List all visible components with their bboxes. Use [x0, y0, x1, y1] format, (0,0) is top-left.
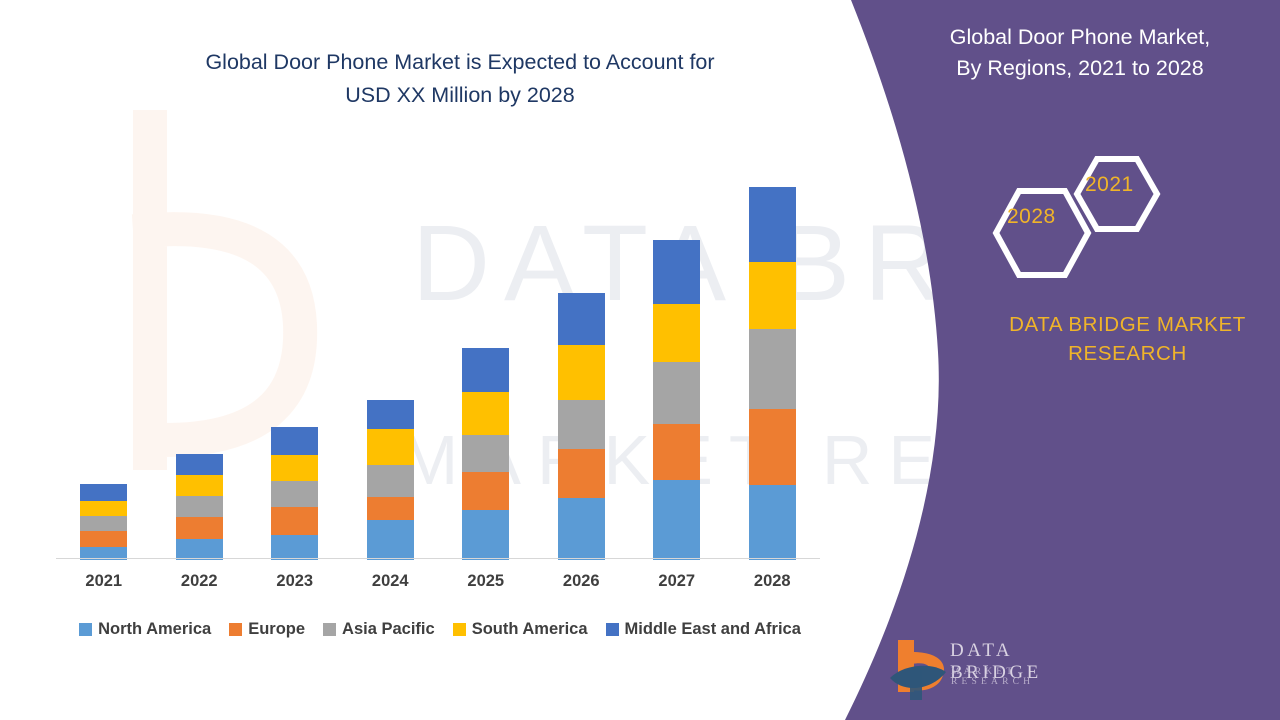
bar-2026[interactable]	[558, 293, 605, 560]
legend-item[interactable]: North America	[79, 620, 211, 639]
bar-segment[interactable]	[367, 520, 414, 560]
bar-segment[interactable]	[176, 517, 223, 539]
x-axis-line	[56, 558, 820, 559]
bar-segment[interactable]	[271, 427, 318, 455]
hexagon-2021-label: 2021	[1085, 173, 1134, 197]
bar-segment[interactable]	[367, 429, 414, 465]
bar-segment[interactable]	[367, 465, 414, 497]
legend-swatch-icon	[453, 623, 466, 636]
bar-segment[interactable]	[80, 484, 127, 501]
legend-label: Middle East and Africa	[625, 620, 801, 639]
bar-segment[interactable]	[462, 510, 509, 560]
bar-segment[interactable]	[271, 455, 318, 481]
bar-segment[interactable]	[749, 262, 796, 329]
bar-segment[interactable]	[749, 485, 796, 560]
x-axis-label-2023: 2023	[250, 572, 340, 591]
bar-segment[interactable]	[367, 400, 414, 429]
panel-title-line1: Global Door Phone Market,	[950, 25, 1211, 49]
bar-segment[interactable]	[462, 435, 509, 472]
legend-swatch-icon	[606, 623, 619, 636]
legend-label: South America	[472, 620, 588, 639]
x-axis-label-2025: 2025	[441, 572, 531, 591]
brand-line1: DATA BRIDGE MARKET	[955, 310, 1280, 339]
bar-2022[interactable]	[176, 454, 223, 560]
bar-segment[interactable]	[653, 424, 700, 480]
bar-segment[interactable]	[462, 348, 509, 392]
bar-2027[interactable]	[653, 240, 700, 560]
hexagon-2028-shape	[996, 191, 1088, 275]
bar-segment[interactable]	[749, 329, 796, 409]
chart-title-line1: Global Door Phone Market is Expected to …	[205, 50, 714, 74]
bar-segment[interactable]	[367, 497, 414, 520]
bar-segment[interactable]	[749, 409, 796, 485]
brand-line2: RESEARCH	[955, 339, 1280, 368]
bar-segment[interactable]	[176, 454, 223, 475]
chart-title-line2: USD XX Million by 2028	[110, 79, 810, 112]
panel-title-line2: By Regions, 2021 to 2028	[900, 53, 1260, 84]
legend-item[interactable]: Europe	[229, 620, 305, 639]
bar-segment[interactable]	[653, 304, 700, 362]
x-axis-label-2027: 2027	[632, 572, 722, 591]
legend-item[interactable]: South America	[453, 620, 588, 639]
bar-segment[interactable]	[653, 480, 700, 560]
bar-segment[interactable]	[462, 472, 509, 510]
bar-2021[interactable]	[80, 484, 127, 560]
legend-swatch-icon	[79, 623, 92, 636]
chart-title: Global Door Phone Market is Expected to …	[110, 46, 810, 112]
bar-segment[interactable]	[558, 293, 605, 345]
logo-mark-icon	[888, 634, 950, 702]
x-axis-label-2026: 2026	[536, 572, 626, 591]
chart-plot-area	[56, 140, 820, 560]
bar-segment[interactable]	[558, 345, 605, 400]
bar-segment[interactable]	[80, 501, 127, 516]
bar-segment[interactable]	[176, 496, 223, 517]
bar-segment[interactable]	[80, 516, 127, 531]
bar-2028[interactable]	[749, 187, 796, 560]
bar-segment[interactable]	[271, 507, 318, 535]
legend-label: Europe	[248, 620, 305, 639]
bar-segment[interactable]	[271, 535, 318, 560]
bar-segment[interactable]	[558, 498, 605, 560]
bar-segment[interactable]	[749, 187, 796, 262]
hexagon-2028-label: 2028	[1007, 205, 1056, 229]
legend-label: North America	[98, 620, 211, 639]
legend-item[interactable]: Asia Pacific	[323, 620, 435, 639]
data-bridge-logo: DATA BRIDGE MARKET RESEARCH	[888, 634, 1103, 706]
legend-item[interactable]: Middle East and Africa	[606, 620, 801, 639]
bar-segment[interactable]	[271, 481, 318, 507]
logo-tagline: MARKET RESEARCH	[951, 667, 1103, 687]
x-axis-label-2021: 2021	[59, 572, 149, 591]
bar-2025[interactable]	[462, 348, 509, 560]
brand-name: DATA BRIDGE MARKET RESEARCH	[955, 310, 1280, 368]
infographic-canvas: DATA BRIDGE MARKET RESEARCH Global Door …	[0, 0, 1280, 720]
chart-legend: North AmericaEuropeAsia PacificSouth Ame…	[56, 616, 824, 642]
hexagon-badges: 2028 2021	[985, 155, 1185, 280]
bar-segment[interactable]	[653, 240, 700, 304]
panel-title: Global Door Phone Market, By Regions, 20…	[900, 22, 1260, 84]
bar-segment[interactable]	[462, 392, 509, 435]
bar-segment[interactable]	[176, 475, 223, 496]
x-axis-label-2028: 2028	[727, 572, 817, 591]
bar-segment[interactable]	[176, 539, 223, 560]
bar-2024[interactable]	[367, 400, 414, 560]
legend-label: Asia Pacific	[342, 620, 435, 639]
bar-segment[interactable]	[558, 400, 605, 449]
bar-2023[interactable]	[271, 427, 318, 560]
x-axis-label-2022: 2022	[154, 572, 244, 591]
x-axis-label-2024: 2024	[345, 572, 435, 591]
bar-segment[interactable]	[80, 531, 127, 547]
legend-swatch-icon	[323, 623, 336, 636]
legend-swatch-icon	[229, 623, 242, 636]
x-axis-labels: 20212022202320242025202620272028	[56, 572, 820, 602]
bar-segment[interactable]	[653, 362, 700, 424]
bar-segment[interactable]	[558, 449, 605, 498]
